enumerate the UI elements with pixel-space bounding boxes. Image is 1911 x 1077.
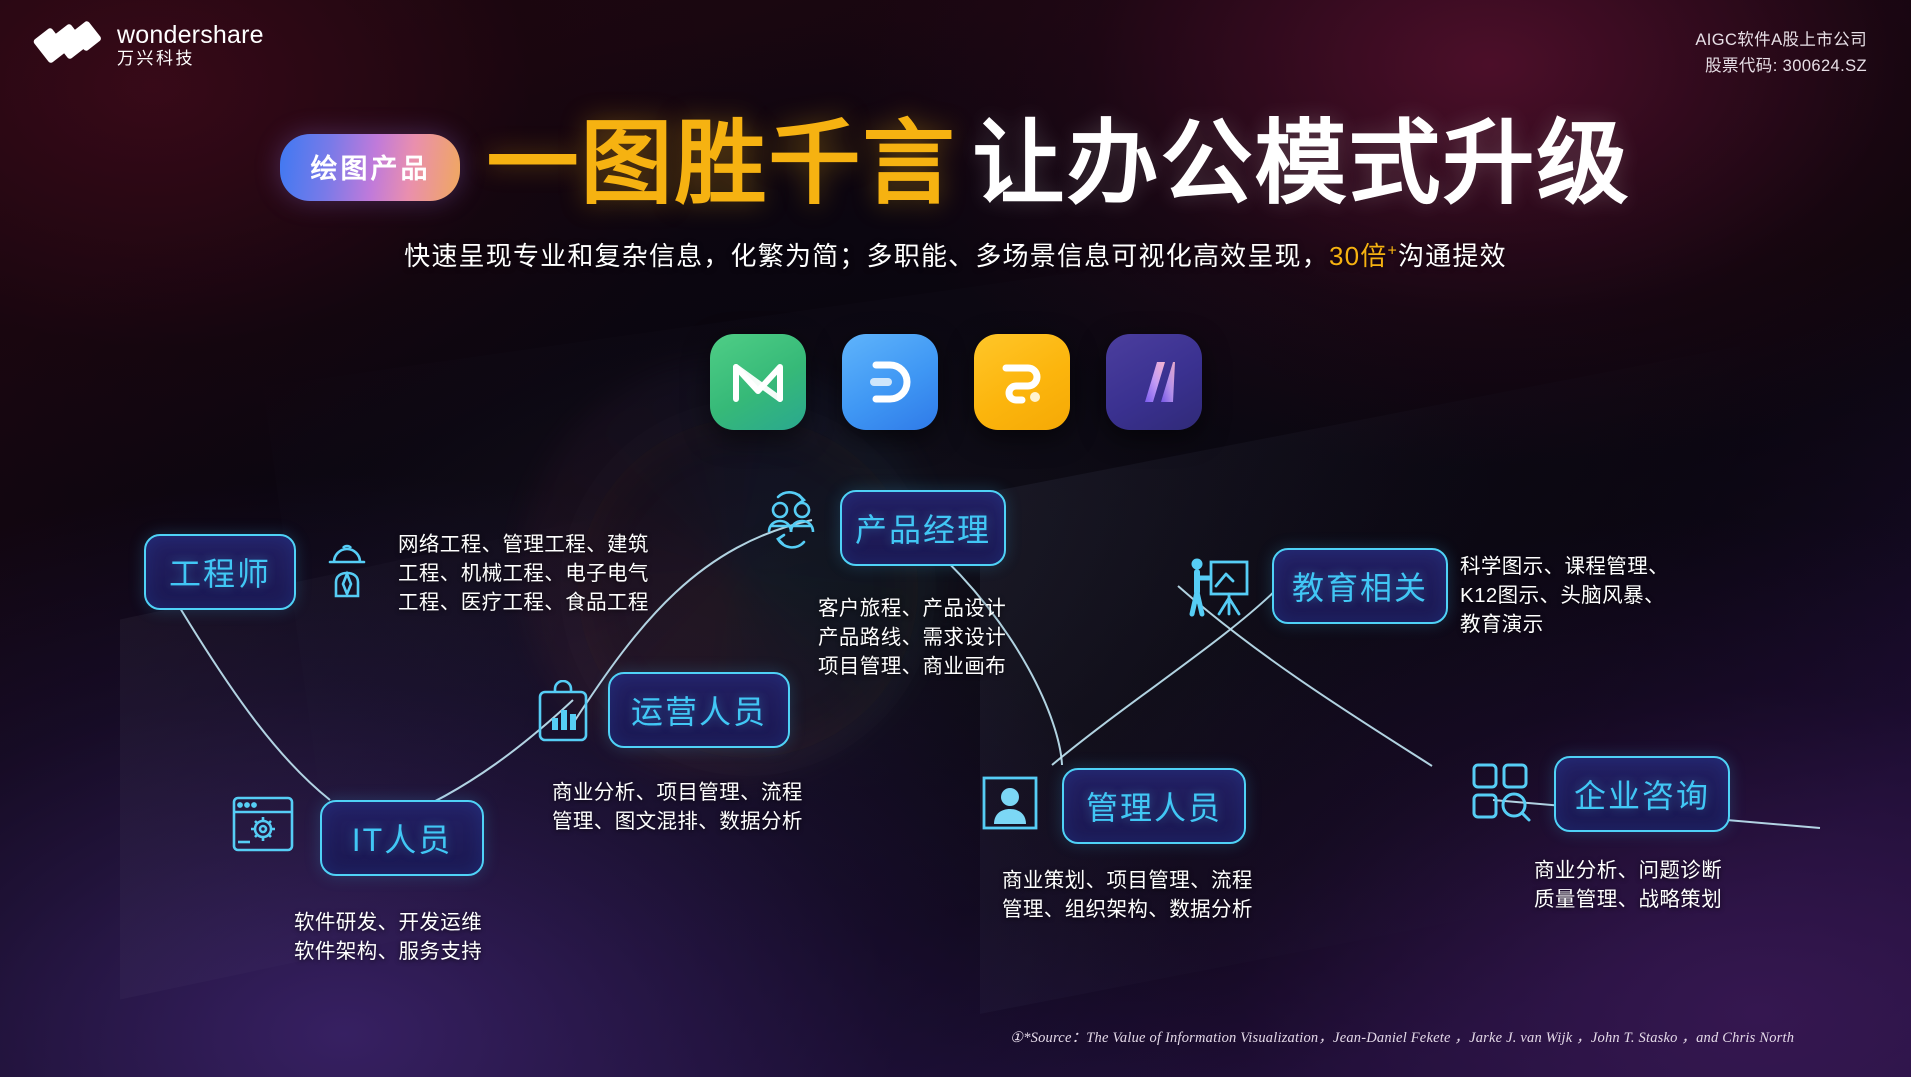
edrawmind-icon[interactable] xyxy=(974,334,1070,430)
node-education[interactable]: 教育相关 xyxy=(1272,548,1448,624)
node-product-manager[interactable]: 产品经理 xyxy=(840,490,1006,566)
node-management-label: 管理人员 xyxy=(1086,783,1222,829)
node-engineer[interactable]: 工程师 xyxy=(144,534,296,610)
team-cycle-icon xyxy=(754,486,826,552)
node-management-desc: 商业策划、项目管理、流程 管理、组织架构、数据分析 xyxy=(1002,866,1253,924)
node-education-label: 教育相关 xyxy=(1292,563,1428,609)
hero-subtitle-superscript: + xyxy=(1387,242,1398,259)
clipboard-chart-icon xyxy=(532,680,594,746)
source-footnote: ①*Source：The Value of Information Visual… xyxy=(1010,1026,1794,1047)
page-title: 一图胜千言让办公模式升级 xyxy=(486,118,1630,210)
engineer-helmet-icon xyxy=(314,538,380,604)
stock-code-label: 股票代码: 300624.SZ xyxy=(1695,54,1867,80)
node-it-staff-label: IT人员 xyxy=(352,815,452,861)
page-title-white: 让办公模式升级 xyxy=(973,113,1631,215)
hero-subtitle-post: 沟通提效 xyxy=(1398,241,1507,271)
page-title-gold: 一图胜千言 xyxy=(486,113,956,215)
mindmaster-icon[interactable] xyxy=(710,334,806,430)
grid-search-icon xyxy=(1468,760,1534,824)
hero-subtitle-pre: 快速呈现专业和复杂信息，化繁为简；多职能、多场景信息可视化高效呈现， xyxy=(404,241,1329,271)
node-operations-label: 运营人员 xyxy=(631,687,767,733)
brand-name-en: wondershare xyxy=(117,22,264,48)
node-it-staff-desc: 软件研发、开发运维 软件架构、服务支持 xyxy=(294,908,482,966)
poster-canvas: wondershare 万兴科技 AIGC软件A股上市公司 股票代码: 3006… xyxy=(0,0,1911,1077)
node-operations-desc: 商业分析、项目管理、流程 管理、图文混排、数据分析 xyxy=(552,778,803,836)
brand-logo-text: wondershare 万兴科技 xyxy=(117,22,264,68)
node-consulting[interactable]: 企业咨询 xyxy=(1554,756,1730,832)
hero-title-row: 绘图产品 一图胜千言让办公模式升级 xyxy=(0,118,1911,210)
wondershare-w-icon xyxy=(40,25,100,65)
brand-name-cn: 万兴科技 xyxy=(117,50,264,68)
node-product-manager-label: 产品经理 xyxy=(855,505,991,551)
teacher-board-icon xyxy=(1182,552,1254,622)
node-engineer-desc: 网络工程、管理工程、建筑 工程、机械工程、电子电气 工程、医疗工程、食品工程 xyxy=(398,530,649,617)
node-operations[interactable]: 运营人员 xyxy=(608,672,790,748)
node-consulting-label: 企业咨询 xyxy=(1574,771,1710,817)
edrawai-icon[interactable] xyxy=(1106,334,1202,430)
hero-subtitle-highlight: 30倍 xyxy=(1329,241,1388,271)
stock-listing-label: AIGC软件A股上市公司 xyxy=(1695,28,1867,54)
node-it-staff[interactable]: IT人员 xyxy=(320,800,484,876)
product-icon-row xyxy=(0,334,1911,430)
node-consulting-desc: 商业分析、问题诊断 质量管理、战略策划 xyxy=(1534,856,1722,914)
stock-info: AIGC软件A股上市公司 股票代码: 300624.SZ xyxy=(1695,28,1867,79)
hero-section: 绘图产品 一图胜千言让办公模式升级 快速呈现专业和复杂信息，化繁为简；多职能、多… xyxy=(0,118,1911,273)
hero-subtitle: 快速呈现专业和复杂信息，化繁为简；多职能、多场景信息可视化高效呈现，30倍+沟通… xyxy=(0,236,1911,273)
node-education-desc: 科学图示、课程管理、 K12图示、头脑风暴、 教育演示 xyxy=(1460,552,1669,639)
product-category-badge[interactable]: 绘图产品 xyxy=(280,134,460,201)
browser-gear-icon xyxy=(228,792,298,858)
node-engineer-label: 工程师 xyxy=(169,549,271,595)
node-product-manager-desc: 客户旅程、产品设计 产品路线、需求设计 项目管理、商业画布 xyxy=(818,594,1006,681)
person-badge-icon xyxy=(978,772,1042,834)
node-management[interactable]: 管理人员 xyxy=(1062,768,1246,844)
link-engineer-to-it xyxy=(180,608,330,800)
brand-logo[interactable]: wondershare 万兴科技 xyxy=(40,22,264,68)
edrawmax-icon[interactable] xyxy=(842,334,938,430)
